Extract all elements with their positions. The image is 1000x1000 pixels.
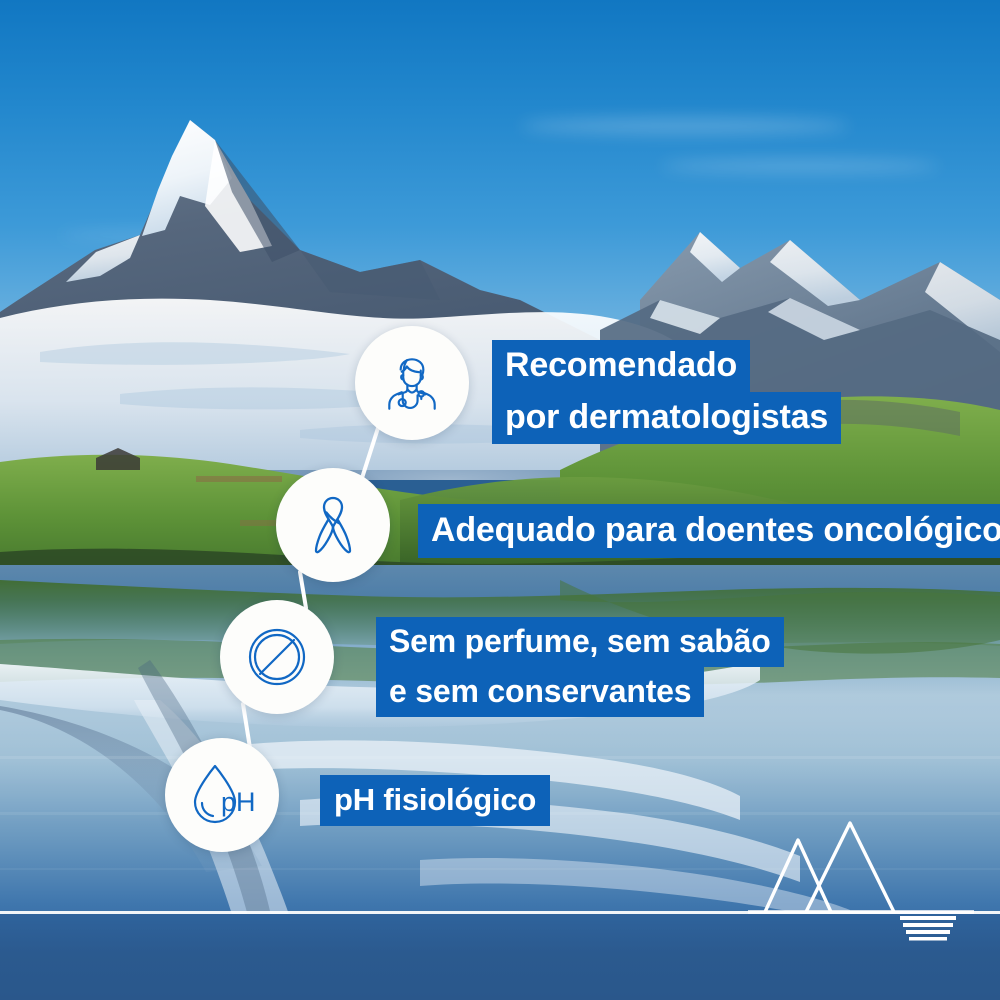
feature-badge-oncology: Adequado para doentes oncológicos (418, 504, 1000, 558)
badge-line: Sem perfume, sem sabão (376, 617, 784, 667)
badge-line: e sem conservantes (376, 667, 704, 717)
feature-badge-ph: pH fisiológico (320, 775, 550, 826)
logo-peak-large (806, 823, 894, 912)
doctor-stethoscope-icon (379, 350, 445, 416)
feature-icon-circle-ph[interactable]: pH (165, 738, 279, 852)
lake-ripple (0, 756, 1000, 759)
badge-line: Recomendado (492, 340, 750, 392)
feature-icon-circle-oncology[interactable] (276, 468, 390, 582)
logo-reflection-triangle (900, 916, 956, 942)
ph-drop-label: pH (221, 787, 255, 817)
water-drop-ph-icon: pH (189, 761, 255, 829)
promo-image-canvas: pH Recomendado por dermatologistas Adequ… (0, 0, 1000, 1000)
badge-line: por dermatologistas (492, 392, 841, 444)
feature-icon-circle-dermatologist[interactable] (355, 326, 469, 440)
logo-peak-small (765, 840, 831, 912)
badge-line: Adequado para doentes oncológicos (418, 504, 1000, 558)
prohibited-circle-icon (245, 625, 309, 689)
mountain-peaks-reflection-logo (748, 820, 974, 942)
feature-icon-circle-no-fragrance[interactable] (220, 600, 334, 714)
badge-line: pH fisiológico (320, 775, 550, 826)
awareness-ribbon-icon (301, 492, 365, 558)
feature-badge-no-fragrance: Sem perfume, sem sabão e sem conservante… (376, 617, 784, 717)
feature-badge-dermatologist: Recomendado por dermatologistas (492, 340, 841, 444)
